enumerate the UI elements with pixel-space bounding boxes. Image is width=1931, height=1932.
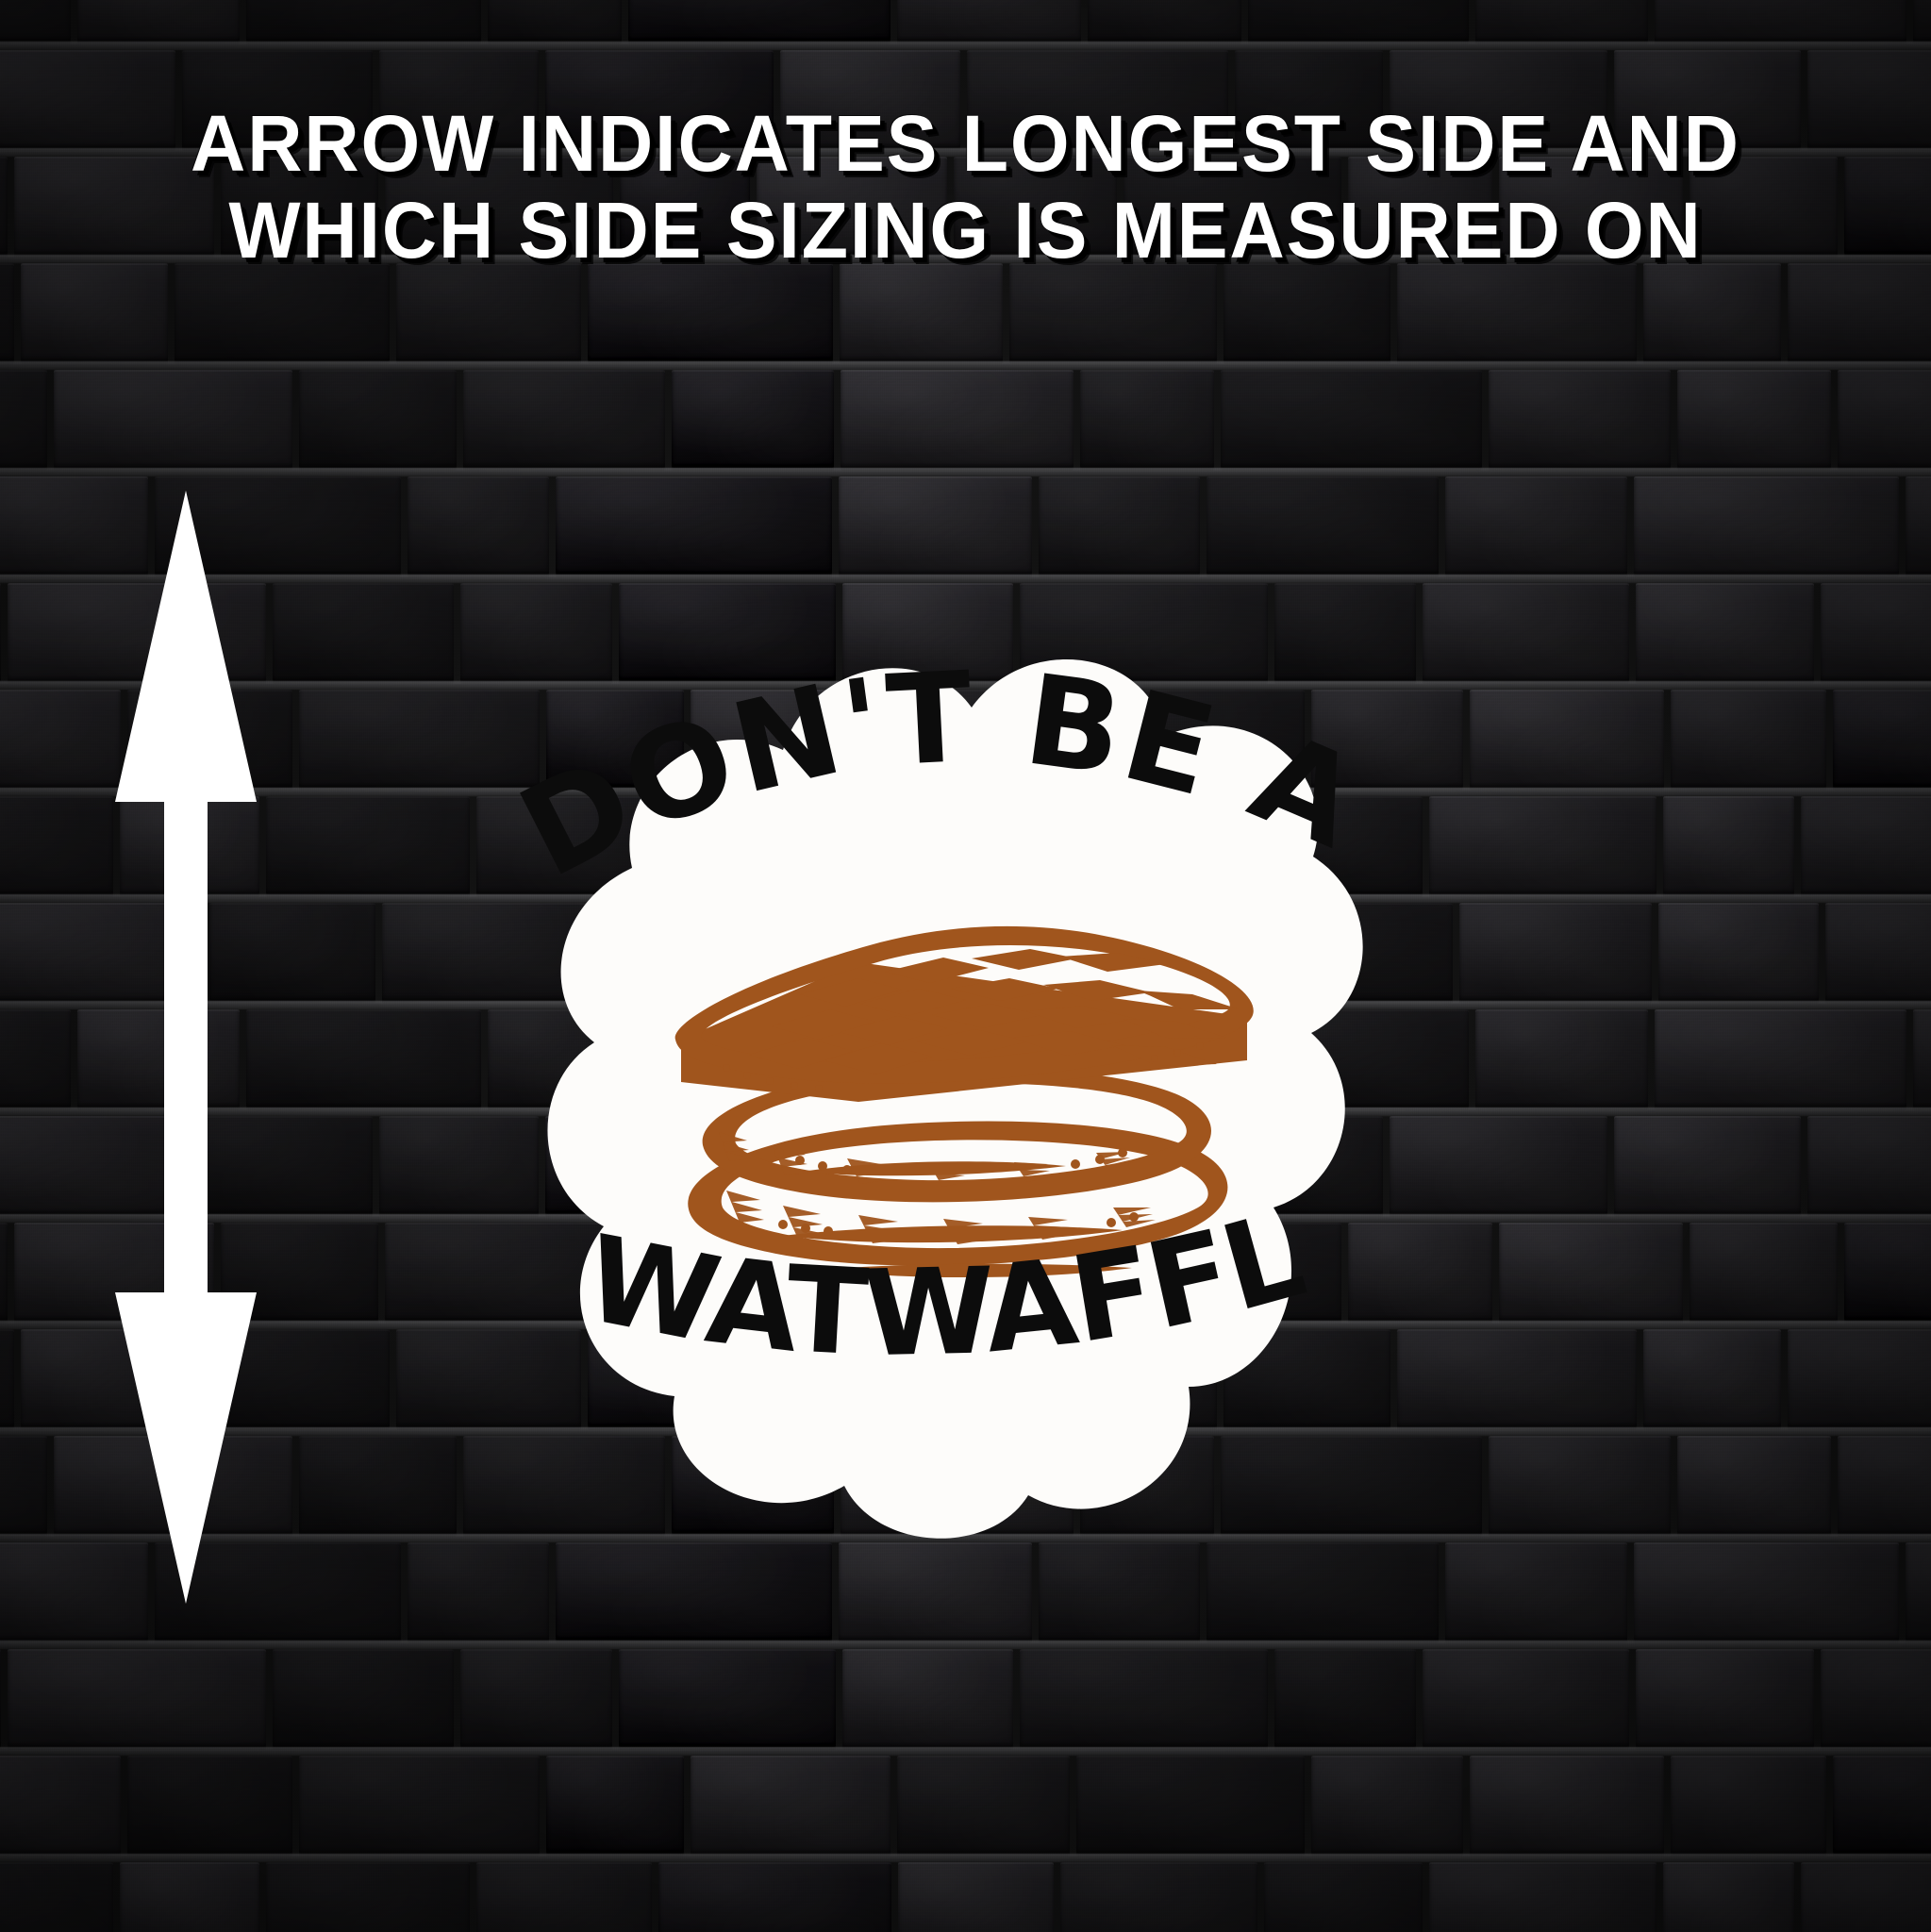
brick <box>460 1649 612 1747</box>
brick-row <box>0 50 1931 148</box>
brick <box>954 157 1117 255</box>
brick <box>967 50 1228 148</box>
brick <box>1677 370 1830 468</box>
brick <box>299 370 458 468</box>
double-arrow-icon <box>115 491 257 1604</box>
brick <box>1838 1436 1931 1534</box>
mortar-line <box>0 1854 1931 1862</box>
brick <box>77 0 240 42</box>
brick <box>619 1649 836 1747</box>
brick <box>476 1862 652 1932</box>
brick <box>1671 690 1826 788</box>
brick <box>8 1649 266 1747</box>
brick <box>1655 1009 1906 1108</box>
brick <box>1088 0 1241 42</box>
brick <box>1459 903 1652 1001</box>
brick <box>1655 0 1906 42</box>
brick <box>1636 583 1813 681</box>
brick <box>1224 263 1390 361</box>
brick <box>0 583 1 681</box>
brick <box>0 1649 1 1747</box>
brick <box>1397 1329 1637 1427</box>
brick <box>182 50 373 148</box>
mortar-line <box>0 1641 1931 1649</box>
brick <box>54 370 292 468</box>
brick <box>1235 50 1384 148</box>
brick <box>628 0 891 42</box>
brick <box>1470 1756 1663 1854</box>
brick <box>1348 157 1492 255</box>
brick <box>175 263 390 361</box>
mortar-line <box>0 148 1931 157</box>
brick <box>1663 796 1794 894</box>
brick-row <box>0 1862 1931 1932</box>
brick <box>1274 1649 1416 1747</box>
brick <box>0 690 121 788</box>
brick <box>1207 1542 1439 1641</box>
brick <box>691 1756 891 1854</box>
brick <box>488 0 623 42</box>
brick <box>1663 1862 1794 1932</box>
brick <box>556 1542 832 1641</box>
brick <box>1643 1329 1781 1427</box>
brick <box>385 157 613 255</box>
brick <box>897 0 1081 42</box>
brick <box>1658 903 1820 1001</box>
brick <box>1913 1009 1931 1108</box>
brick <box>1614 1116 1801 1214</box>
brick <box>1801 796 1931 894</box>
brick <box>1821 1649 1931 1747</box>
brick <box>1913 0 1931 42</box>
brick <box>897 1756 1069 1854</box>
brick-row <box>0 157 1931 255</box>
brick <box>0 1223 8 1321</box>
brick <box>1423 1649 1629 1747</box>
brick-row <box>0 370 1931 468</box>
brick <box>127 1756 292 1854</box>
brick <box>1489 1436 1672 1534</box>
brick <box>0 1009 71 1108</box>
sticker-product-photo: ARROW INDICATES LONGEST SIDE AND WHICH S… <box>0 0 1931 1932</box>
brick <box>1311 1756 1463 1854</box>
mortar-line <box>0 42 1931 50</box>
brick <box>21 263 168 361</box>
brick <box>0 1862 113 1932</box>
brick <box>1690 157 1837 255</box>
brick <box>1499 157 1683 255</box>
brick <box>1821 583 1931 681</box>
brick <box>1634 1542 1899 1641</box>
brick <box>1643 263 1781 361</box>
brick <box>1475 1009 1648 1108</box>
brick <box>1390 50 1607 148</box>
brick <box>266 1862 471 1932</box>
brick <box>839 1542 1032 1641</box>
brick <box>841 370 1074 468</box>
brick <box>396 263 581 361</box>
brick <box>1788 1329 1931 1427</box>
brick <box>1264 1862 1423 1932</box>
brick <box>1614 50 1801 148</box>
brick <box>1080 370 1214 468</box>
brick-row <box>0 0 1931 42</box>
brick <box>1671 1756 1826 1854</box>
brick <box>0 1329 14 1427</box>
brick <box>780 50 959 148</box>
brick <box>0 370 47 468</box>
brick-row <box>0 1756 1931 1854</box>
brick <box>246 0 480 42</box>
brick <box>273 1649 454 1747</box>
brick <box>1833 1756 1931 1854</box>
brick <box>898 1862 1053 1932</box>
brick <box>299 1756 540 1854</box>
brick <box>408 1542 549 1641</box>
brick <box>221 157 378 255</box>
brick <box>1489 370 1672 468</box>
brick <box>1677 1436 1830 1534</box>
brick <box>588 263 833 361</box>
brick <box>1060 1862 1257 1932</box>
brick <box>620 157 750 255</box>
brick <box>1906 476 1931 575</box>
brick <box>0 157 8 255</box>
brick <box>1807 50 1931 148</box>
brick <box>1076 1756 1306 1854</box>
brick <box>299 1436 458 1534</box>
brick <box>545 50 774 148</box>
brick <box>1499 1223 1683 1321</box>
brick-row <box>0 263 1931 361</box>
brick <box>1690 1223 1837 1321</box>
brick <box>1009 263 1217 361</box>
brick <box>0 50 175 148</box>
brick <box>0 1436 47 1534</box>
mortar-line <box>0 361 1931 370</box>
brick <box>658 1862 891 1932</box>
brick <box>1423 583 1629 681</box>
brick <box>672 370 834 468</box>
brick <box>463 370 665 468</box>
brick <box>842 1649 1013 1747</box>
brick <box>1825 903 1931 1001</box>
waffle-sticker: DON'T BE A TWATWAFFLE <box>500 557 1377 1557</box>
brick <box>120 1862 259 1932</box>
brick <box>1634 476 1899 575</box>
brick <box>1429 1862 1657 1932</box>
brick <box>1039 1542 1201 1641</box>
brick <box>1445 1542 1627 1641</box>
brick <box>1788 263 1931 361</box>
brick <box>1475 0 1648 42</box>
brick <box>1124 157 1341 255</box>
brick <box>1807 1116 1931 1214</box>
brick <box>1844 1223 1931 1321</box>
brick <box>1445 476 1627 575</box>
brick <box>1906 1542 1931 1641</box>
brick <box>273 583 454 681</box>
brick <box>1801 1862 1931 1932</box>
mortar-line <box>0 1747 1931 1756</box>
brick <box>757 157 947 255</box>
brick-row <box>0 1542 1931 1641</box>
brick <box>1248 0 1469 42</box>
brick <box>1221 370 1482 468</box>
brick <box>1838 370 1931 468</box>
brick <box>546 1756 683 1854</box>
brick-row <box>0 1649 1931 1747</box>
brick <box>266 796 471 894</box>
brick <box>840 263 1003 361</box>
mortar-line <box>0 468 1931 476</box>
brick <box>379 50 539 148</box>
brick <box>1470 690 1663 788</box>
brick <box>1020 1649 1268 1747</box>
mortar-line <box>0 255 1931 263</box>
brick <box>1844 157 1931 255</box>
brick <box>246 1009 480 1108</box>
brick <box>0 0 71 42</box>
brick <box>14 157 214 255</box>
brick <box>1833 690 1931 788</box>
brick <box>1397 263 1637 361</box>
brick <box>1429 796 1657 894</box>
brick <box>0 796 113 894</box>
brick <box>0 1756 121 1854</box>
brick <box>0 263 14 361</box>
brick <box>1390 1116 1607 1214</box>
brick <box>1636 1649 1813 1747</box>
